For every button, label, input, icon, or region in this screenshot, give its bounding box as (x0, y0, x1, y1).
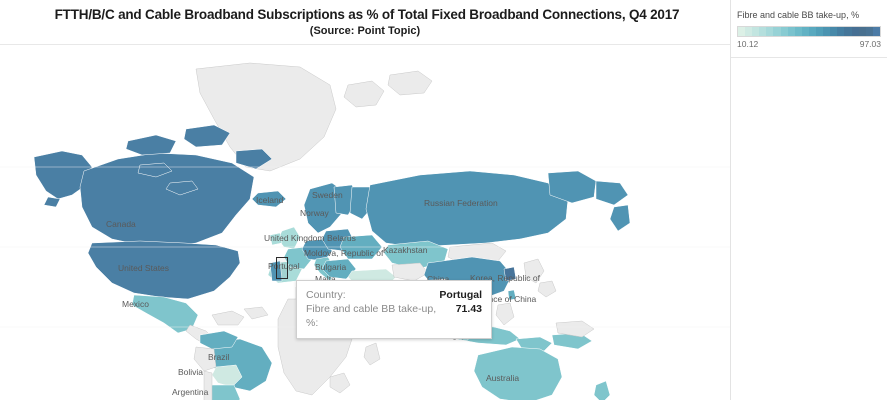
legend-max-label: 97.03 (860, 39, 881, 49)
tooltip-value-country: Portugal (439, 288, 482, 302)
legend-swatch-6 (781, 27, 788, 36)
legend-swatch-19 (873, 27, 880, 36)
selection-marquee[interactable] (276, 257, 288, 279)
tooltip-key-country: Country: (306, 288, 346, 302)
legend-pane: Fibre and cable BB take-up, % 10.12 97.0… (731, 0, 887, 400)
legend-swatch-18 (866, 27, 873, 36)
legend-min-label: 10.12 (737, 39, 758, 49)
legend-scale: 10.12 97.03 (737, 39, 881, 49)
chart-subtitle: (Source: Point Topic) (0, 24, 730, 38)
dashboard-root: FTTH/B/C and Cable Broadband Subscriptio… (0, 0, 887, 400)
legend-swatch-10 (809, 27, 816, 36)
legend-swatch-1 (745, 27, 752, 36)
legend-divider (731, 57, 887, 58)
world-map-svg[interactable]: .nd { fill:#ebebeb; stroke:#c9c9c9; stro… (0, 47, 731, 400)
legend-swatch-13 (830, 27, 837, 36)
choropleth-map[interactable]: .nd { fill:#ebebeb; stroke:#c9c9c9; stro… (0, 47, 731, 400)
page-title: FTTH/B/C and Cable Broadband Subscriptio… (0, 7, 730, 23)
map-tooltip: Country: Portugal Fibre and cable BB tak… (296, 280, 492, 339)
tooltip-value-takeup: 71.43 (456, 302, 482, 316)
legend-swatch-16 (852, 27, 859, 36)
legend-title: Fibre and cable BB take-up, % (737, 9, 881, 21)
legend-swatch-12 (823, 27, 830, 36)
legend-swatch-5 (773, 27, 780, 36)
title-block: FTTH/B/C and Cable Broadband Subscriptio… (0, 0, 730, 45)
legend-swatch-11 (816, 27, 823, 36)
legend-swatch-7 (788, 27, 795, 36)
legend-swatch-2 (752, 27, 759, 36)
legend-swatch-4 (766, 27, 773, 36)
legend-swatch-8 (795, 27, 802, 36)
tooltip-row-country: Country: Portugal (306, 288, 482, 302)
legend-swatch-15 (844, 27, 851, 36)
chart-pane: FTTH/B/C and Cable Broadband Subscriptio… (0, 0, 731, 400)
legend-swatch-3 (759, 27, 766, 36)
tooltip-key-takeup: Fibre and cable BB take-up, %: (306, 302, 448, 330)
legend-swatch-0 (738, 27, 745, 36)
legend-swatch-9 (802, 27, 809, 36)
legend-color-ramp[interactable] (737, 26, 881, 37)
legend-swatch-14 (837, 27, 844, 36)
legend-swatch-17 (859, 27, 866, 36)
tooltip-row-takeup: Fibre and cable BB take-up, %: 71.43 (306, 302, 482, 330)
